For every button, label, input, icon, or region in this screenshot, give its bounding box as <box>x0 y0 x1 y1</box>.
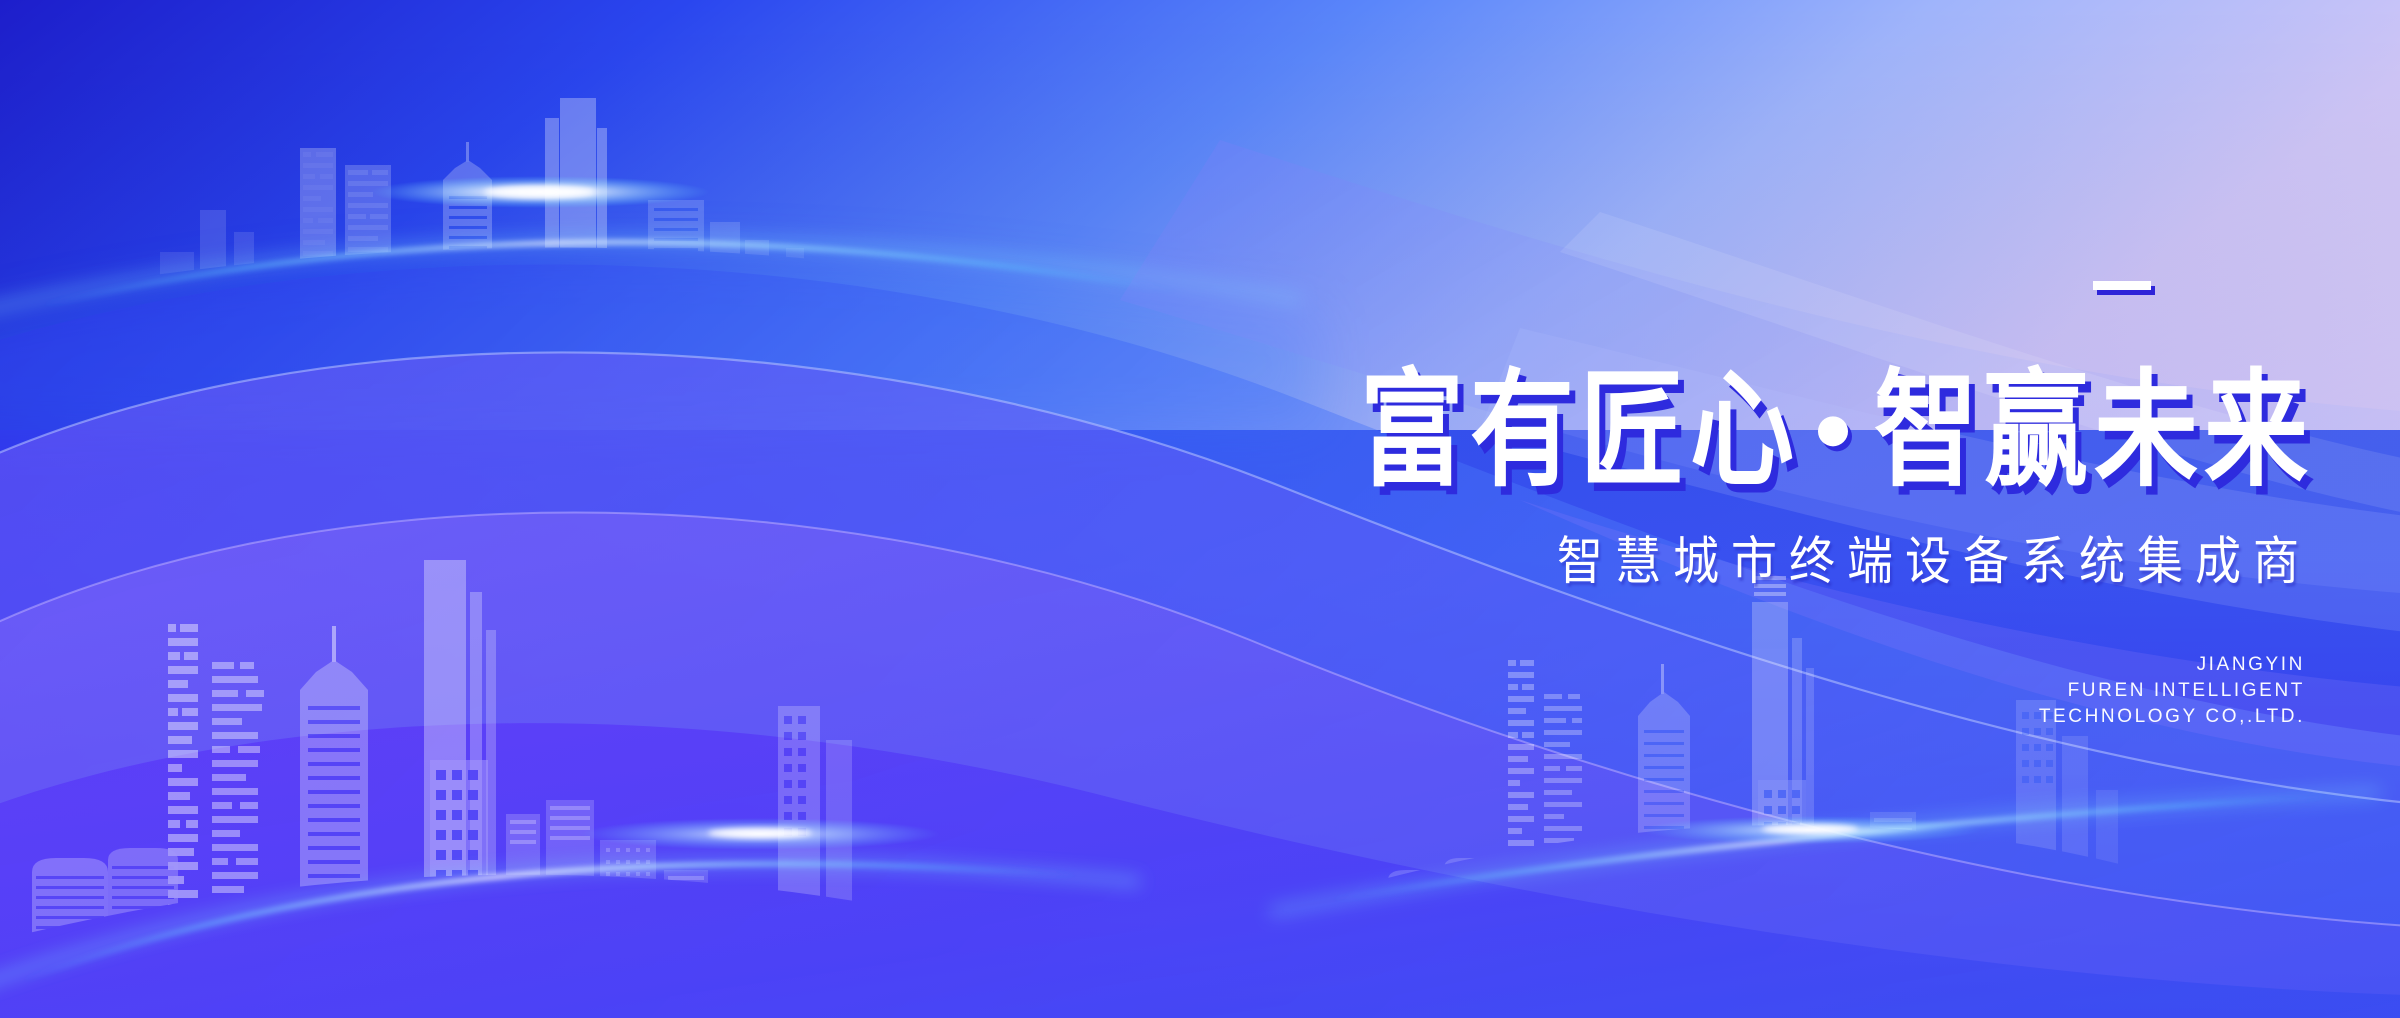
banner-canvas: 富有匠心·智赢未来 智慧城市终端设备系统集成商 JIANGYIN FUREN I… <box>0 0 2400 1018</box>
background-artwork <box>0 0 2400 1018</box>
